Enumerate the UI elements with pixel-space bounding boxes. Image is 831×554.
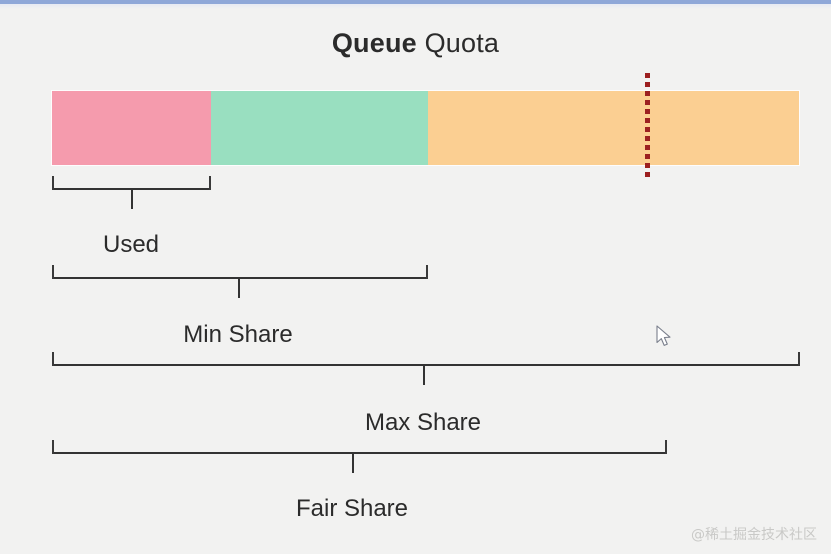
brace-fair-share xyxy=(52,440,667,460)
window-top-shade xyxy=(0,4,831,9)
page-title-light: Quota xyxy=(425,28,500,58)
brace-line-fair-share xyxy=(52,452,667,454)
brace-tick-right-fair-share xyxy=(665,440,667,454)
brace-line-min-share xyxy=(52,277,428,279)
page-title: Queue Quota xyxy=(0,28,831,59)
brace-min-share xyxy=(52,265,428,285)
brace-label-fair-share: Fair Share xyxy=(296,495,408,523)
quota-bar xyxy=(52,91,799,165)
diagram-canvas: Queue Quota UsedMin ShareMax ShareFair S… xyxy=(0,0,831,554)
brace-tick-right-min-share xyxy=(426,265,428,279)
brace-tick-left-max-share xyxy=(52,352,54,366)
watermark: @稀土掘金技术社区 xyxy=(691,524,817,544)
brace-used xyxy=(52,176,211,196)
brace-tick-right-max-share xyxy=(798,352,800,366)
brace-label-used: Used xyxy=(103,231,159,259)
quota-bar-segment-headroom-to-max xyxy=(428,91,799,165)
brace-tick-left-used xyxy=(52,176,54,190)
brace-tick-mid-fair-share xyxy=(352,452,354,473)
brace-label-min-share: Min Share xyxy=(183,321,292,349)
brace-tick-mid-min-share xyxy=(238,277,240,298)
brace-tick-left-fair-share xyxy=(52,440,54,454)
brace-tick-mid-max-share xyxy=(423,364,425,385)
quota-bar-segment-used xyxy=(52,91,211,165)
brace-tick-right-used xyxy=(209,176,211,190)
brace-max-share xyxy=(52,352,800,372)
brace-line-max-share xyxy=(52,364,800,366)
brace-tick-left-min-share xyxy=(52,265,54,279)
brace-tick-mid-used xyxy=(131,188,133,209)
mouse-pointer-icon xyxy=(656,325,674,349)
page-title-strong: Queue xyxy=(332,28,417,58)
fair-share-dotted-line-icon xyxy=(645,73,650,178)
quota-bar-segment-remaining-min-share xyxy=(211,91,428,165)
brace-label-max-share: Max Share xyxy=(365,409,481,437)
page-title-light-spacer xyxy=(417,28,425,58)
